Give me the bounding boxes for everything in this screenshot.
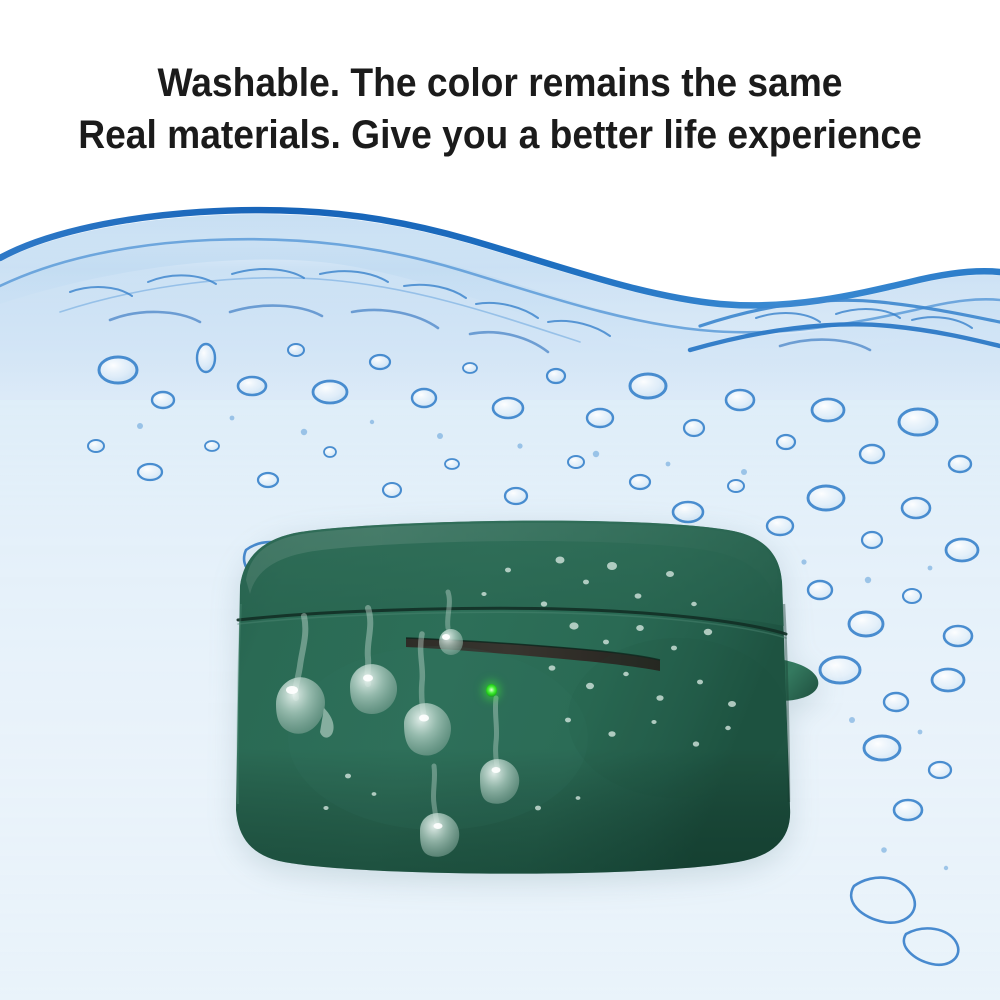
droplet [420,766,459,857]
droplet [480,698,519,804]
droplet [276,616,334,738]
wireless-earbuds-charging-case [208,508,828,898]
water-droplets-on-surface [208,508,828,898]
droplet [439,592,463,655]
droplet [350,608,397,714]
charging-indicator-led [486,684,497,697]
product-marketing-image: Washable. The color remains the same Rea… [0,0,1000,1000]
